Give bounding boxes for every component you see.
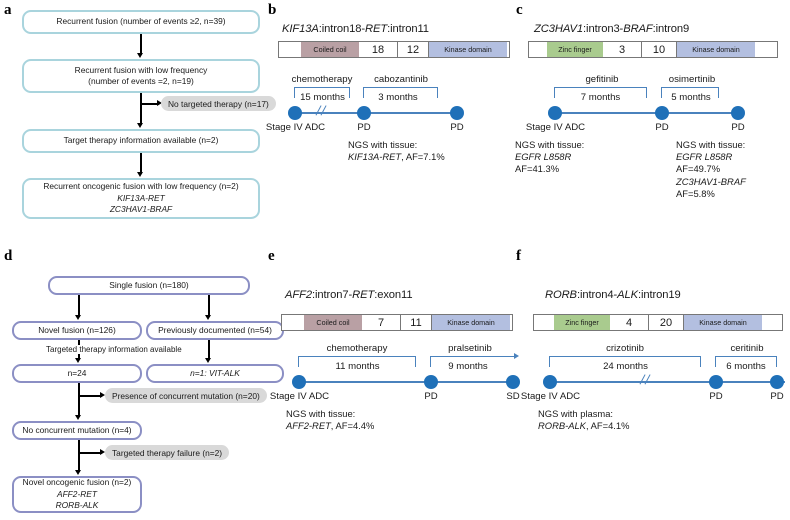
timeline-node-label-f-2: PD xyxy=(757,391,790,402)
ngs-b-gene: KIF13A-RET xyxy=(348,151,401,162)
flow-box-a3-line1: Target therapy information available (n=… xyxy=(64,135,219,146)
flow-box-d7-fusion-1: AFF2-RET xyxy=(57,489,97,500)
treatment-label-b-0: chemotherapy xyxy=(282,74,362,85)
flow-box-a2: Recurrent fusion with low frequency (num… xyxy=(22,59,260,93)
domain-seg-e-0 xyxy=(282,315,304,330)
arrow-d3-d5 xyxy=(208,340,210,360)
duration-label-c-1: 5 months xyxy=(655,92,727,103)
timeline-node-label-c-0: Stage IV ADC xyxy=(518,122,593,133)
fusion-title-b-tail: :intron11 xyxy=(387,23,429,35)
flow-box-a4-line1: Recurrent oncogenic fusion with low freq… xyxy=(43,181,238,192)
timeline-node-label-b-0: Stage IV ADC xyxy=(258,122,333,133)
timeline-node-e-0 xyxy=(292,375,306,389)
timeline-node-b-2 xyxy=(450,106,464,120)
ngs-b-af: , AF=7.1% xyxy=(401,151,445,162)
ngs-c-right-line4: ZC3HAV1-BRAF xyxy=(676,176,746,188)
domain-seg-e-coiled-coil: Coiled coil xyxy=(304,315,362,330)
domain-seg-c-exon2: 10 xyxy=(641,42,677,57)
treatment-label-f-1: ceritinib xyxy=(707,343,787,354)
domain-seg-e-exon2: 11 xyxy=(400,315,432,330)
domain-seg-c-exon1: 3 xyxy=(603,42,641,57)
duration-label-b-1: 3 months xyxy=(362,92,434,103)
ngs-c-right-line5: AF=5.8% xyxy=(676,188,746,200)
timeline-node-b-1 xyxy=(357,106,371,120)
domain-seg-e-exon1: 7 xyxy=(362,315,400,330)
domain-seg-c-5 xyxy=(755,42,777,57)
domain-seg-c-kinase: Kinase domain xyxy=(677,42,755,57)
timeline-node-c-0 xyxy=(548,106,562,120)
fusion-title-b-gene1: KIF13A xyxy=(282,23,319,35)
fusion-title-c-gene1: ZC3HAV1 xyxy=(534,23,583,35)
domain-seg-c-0 xyxy=(529,42,547,57)
timeline-node-e-2 xyxy=(506,375,520,389)
timeline-node-label-c-1: PD xyxy=(642,122,682,133)
treatment-label-f-0: crizotinib xyxy=(585,343,665,354)
flow-box-d4-line1: n=24 xyxy=(68,368,87,379)
duration-label-f-1: 6 months xyxy=(710,361,782,372)
flow-box-a1-line1: Recurrent fusion (number of events ≥2, n… xyxy=(56,16,225,27)
timeline-node-c-1 xyxy=(655,106,669,120)
ngs-f-line1: NGS with plasma: xyxy=(538,408,629,420)
flow-box-a2-line2: (number of events =2, n=19) xyxy=(88,76,194,87)
fusion-title-f-gene1: RORB xyxy=(545,289,577,301)
treatment-label-e-1: pralsetinib xyxy=(430,343,510,354)
flow-box-d7-fusion-2: RORB-ALK xyxy=(56,500,99,511)
timeline-break-f xyxy=(640,375,653,384)
domain-seg-f-exon1: 4 xyxy=(610,315,648,330)
flow-box-d6-line1: No concurrent mutation (n=4) xyxy=(22,425,131,436)
ngs-e-gene: AFF2-RET xyxy=(286,420,331,431)
side-note-concurrent-mutation: Presence of concurrent mutation (n=20) xyxy=(105,388,267,403)
timeline-axis-f xyxy=(545,381,785,383)
ngs-f-gene: RORB-ALK xyxy=(538,420,586,431)
side-note-a-label: No targeted therapy (n=17) xyxy=(168,99,269,109)
arrowhead-a2-a3 xyxy=(137,123,143,128)
fusion-title-b-mid: :intron18- xyxy=(319,23,365,35)
arrowhead-d3-d5 xyxy=(205,358,211,363)
arrow-d1-d3 xyxy=(208,295,210,317)
domain-seg-f-zinc-finger: Zinc finger xyxy=(554,315,610,330)
panel-letter-f: f xyxy=(516,248,521,265)
arrowhead-d6-d7 xyxy=(75,470,81,475)
timeline-axis-e xyxy=(294,381,514,383)
arrowhead-d1-d2 xyxy=(75,315,81,320)
ngs-f-line2: RORB-ALK, AF=4.1% xyxy=(538,420,629,432)
domain-seg-f-5 xyxy=(762,315,782,330)
domain-bar-f: Zinc finger 4 20 Kinase domain xyxy=(533,314,783,331)
flow-box-d5-line1: n=1: VIT-ALK xyxy=(190,368,240,379)
timeline-node-f-2 xyxy=(770,375,784,389)
ngs-b-line2: KIF13A-RET, AF=7.1% xyxy=(348,151,445,163)
ngs-c-right-line1: NGS with tissue: xyxy=(676,139,746,151)
flow-box-a1: Recurrent fusion (number of events ≥2, n… xyxy=(22,10,260,34)
ngs-e-line2: AFF2-RET, AF=4.4% xyxy=(286,420,374,432)
duration-label-e-1: 9 months xyxy=(432,361,504,372)
treatment-arrow-e-1 xyxy=(514,353,519,359)
fusion-title-b-gene2: RET xyxy=(365,23,387,35)
arrow-d-side-2 xyxy=(78,452,102,454)
flow-box-d2-line1: Novel fusion (n=126) xyxy=(38,325,116,336)
fusion-title-c-mid: :intron3- xyxy=(583,23,623,35)
fusion-title-c-gene2: BRAF xyxy=(623,23,652,35)
domain-seg-b-coiled-coil: Coiled coil xyxy=(301,42,359,57)
side-note-d-1-label: Presence of concurrent mutation (n=20) xyxy=(112,391,260,401)
arrowhead-a1-a2 xyxy=(137,53,143,58)
timeline-node-f-0 xyxy=(543,375,557,389)
panel-letter-e: e xyxy=(268,248,275,265)
arrowhead-d1-d3 xyxy=(205,315,211,320)
duration-label-e-0: 11 months xyxy=(320,361,395,372)
flow-box-d1-line1: Single fusion (n=180) xyxy=(109,280,188,291)
ngs-e-af: , AF=4.4% xyxy=(331,420,375,431)
domain-seg-c-zinc-finger: Zinc finger xyxy=(547,42,603,57)
domain-seg-f-0 xyxy=(534,315,554,330)
side-note-d-2-label: Targeted therapy failure (n=2) xyxy=(112,448,222,458)
fusion-title-f-tail: :intron19 xyxy=(638,289,681,301)
timeline-node-label-b-1: PD xyxy=(344,122,384,133)
timeline-node-label-e-0: Stage IV ADC xyxy=(262,391,337,402)
domain-seg-e-kinase: Kinase domain xyxy=(432,315,510,330)
domain-seg-e-5 xyxy=(510,315,512,330)
flow-box-a4-fusion-2: ZC3HAV1-BRAF xyxy=(110,204,172,215)
arrow-a2-a3 xyxy=(140,93,142,125)
fusion-title-b: KIF13A:intron18-RET:intron11 xyxy=(282,23,429,35)
ngs-c-right-line2: EGFR L858R xyxy=(676,151,746,163)
flow-box-a4: Recurrent oncogenic fusion with low freq… xyxy=(22,178,260,219)
arrow-a3-a4 xyxy=(140,153,142,174)
timeline-node-c-2 xyxy=(731,106,745,120)
ngs-c-right-line3: AF=49.7% xyxy=(676,163,746,175)
fusion-title-c: ZC3HAV1:intron3-BRAF:intron9 xyxy=(534,23,689,35)
flow-box-a3: Target therapy information available (n=… xyxy=(22,129,260,153)
fusion-title-e: AFF2:intron7-RET:exon11 xyxy=(285,289,412,301)
fusion-title-e-tail: :exon11 xyxy=(374,289,412,301)
ngs-b-line1: NGS with tissue: xyxy=(348,139,445,151)
flow-box-a4-fusion-1: KIF13A-RET xyxy=(117,193,164,204)
flow-box-d2-novel-fusion: Novel fusion (n=126) xyxy=(12,321,142,340)
fusion-title-e-mid: :intron7- xyxy=(312,289,352,301)
treatment-label-b-1: cabozantinib xyxy=(358,74,444,85)
flow-box-d7-novel-oncogenic-fusion: Novel oncogenic fusion (n=2) AFF2-RET RO… xyxy=(12,476,142,513)
treatment-label-c-0: gefitinib xyxy=(562,74,642,85)
flow-box-d3-line1: Previously documented (n=54) xyxy=(158,325,272,336)
timeline-node-b-0 xyxy=(288,106,302,120)
arrowhead-d2-d4 xyxy=(75,358,81,363)
ngs-block-c-right: NGS with tissue: EGFR L858R AF=49.7% ZC3… xyxy=(676,139,746,200)
flow-edge-label-d: Targeted therapy information available xyxy=(44,345,184,354)
panel-letter-d: d xyxy=(4,248,12,265)
fusion-title-c-tail: :intron9 xyxy=(653,23,690,35)
fusion-title-f-gene2: ALK xyxy=(617,289,638,301)
flow-box-d3-previously-documented: Previously documented (n=54) xyxy=(146,321,284,340)
timeline-node-f-1 xyxy=(709,375,723,389)
arrowhead-a3-a4 xyxy=(137,172,143,177)
domain-seg-b-kinase: Kinase domain xyxy=(429,42,507,57)
duration-label-f-0: 24 months xyxy=(588,361,663,372)
flow-box-d7-line1: Novel oncogenic fusion (n=2) xyxy=(23,477,132,488)
ngs-c-left-line3: AF=41.3% xyxy=(515,163,584,175)
timeline-node-label-e-1: PD xyxy=(411,391,451,402)
arrow-d4-d6 xyxy=(78,383,80,417)
ngs-block-c-left: NGS with tissue: EGFR L858R AF=41.3% xyxy=(515,139,584,176)
arrow-d-side-1 xyxy=(78,395,102,397)
ngs-e-line1: NGS with tissue: xyxy=(286,408,374,420)
timeline-node-label-b-2: PD xyxy=(437,122,477,133)
ngs-c-left-line2: EGFR L858R xyxy=(515,151,584,163)
timeline-node-label-c-2: PD xyxy=(718,122,758,133)
domain-seg-f-exon2: 20 xyxy=(648,315,684,330)
panel-letter-b: b xyxy=(268,2,276,19)
side-note-therapy-failure: Targeted therapy failure (n=2) xyxy=(105,445,229,460)
side-note-no-targeted-therapy: No targeted therapy (n=17) xyxy=(161,96,276,111)
domain-seg-f-kinase: Kinase domain xyxy=(684,315,762,330)
ngs-block-e: NGS with tissue: AFF2-RET, AF=4.4% xyxy=(286,408,374,432)
domain-bar-b: Coiled coil 18 12 Kinase domain xyxy=(278,41,510,58)
fusion-title-f-mid: :intron4- xyxy=(577,289,617,301)
fusion-title-e-gene1: AFF2 xyxy=(285,289,312,301)
domain-bar-c: Zinc finger 3 10 Kinase domain xyxy=(528,41,778,58)
panel-letter-c: c xyxy=(516,2,523,19)
arrow-d1-d2 xyxy=(78,295,80,317)
domain-seg-b-5 xyxy=(507,42,509,57)
duration-label-c-0: 7 months xyxy=(563,92,638,103)
fusion-title-e-gene2: RET xyxy=(352,289,374,301)
domain-seg-b-0 xyxy=(279,42,301,57)
flow-box-d1: Single fusion (n=180) xyxy=(48,276,250,295)
treatment-label-c-1: osimertinib xyxy=(652,74,732,85)
timeline-node-label-f-1: PD xyxy=(696,391,736,402)
duration-label-b-0: 15 months xyxy=(285,92,360,103)
timeline-node-label-f-0: Stage IV ADC xyxy=(513,391,588,402)
flow-box-a2-line1: Recurrent fusion with low frequency xyxy=(75,65,208,76)
arrowhead-d4-d6 xyxy=(75,415,81,420)
ngs-f-af: , AF=4.1% xyxy=(586,420,630,431)
domain-bar-e: Coiled coil 7 11 Kinase domain xyxy=(281,314,513,331)
ngs-block-f: NGS with plasma: RORB-ALK, AF=4.1% xyxy=(538,408,629,432)
fusion-title-f: RORB:intron4-ALK:intron19 xyxy=(545,289,681,301)
flow-box-d4: n=24 xyxy=(12,364,142,383)
panel-letter-a: a xyxy=(4,2,12,19)
flow-box-d6-no-concurrent-mutation: No concurrent mutation (n=4) xyxy=(12,421,142,440)
domain-seg-b-exon2: 12 xyxy=(397,42,429,57)
ngs-block-b: NGS with tissue: KIF13A-RET, AF=7.1% xyxy=(348,139,445,163)
timeline-break-b xyxy=(316,106,329,115)
arrow-a1-a2 xyxy=(140,34,142,55)
flow-box-d5-vit-alk: n=1: VIT-ALK xyxy=(146,364,284,383)
treatment-label-e-0: chemotherapy xyxy=(317,343,397,354)
timeline-axis-c xyxy=(550,112,740,114)
domain-seg-b-exon1: 18 xyxy=(359,42,397,57)
ngs-c-left-line1: NGS with tissue: xyxy=(515,139,584,151)
arrow-d6-d7 xyxy=(78,440,80,472)
timeline-node-e-1 xyxy=(424,375,438,389)
